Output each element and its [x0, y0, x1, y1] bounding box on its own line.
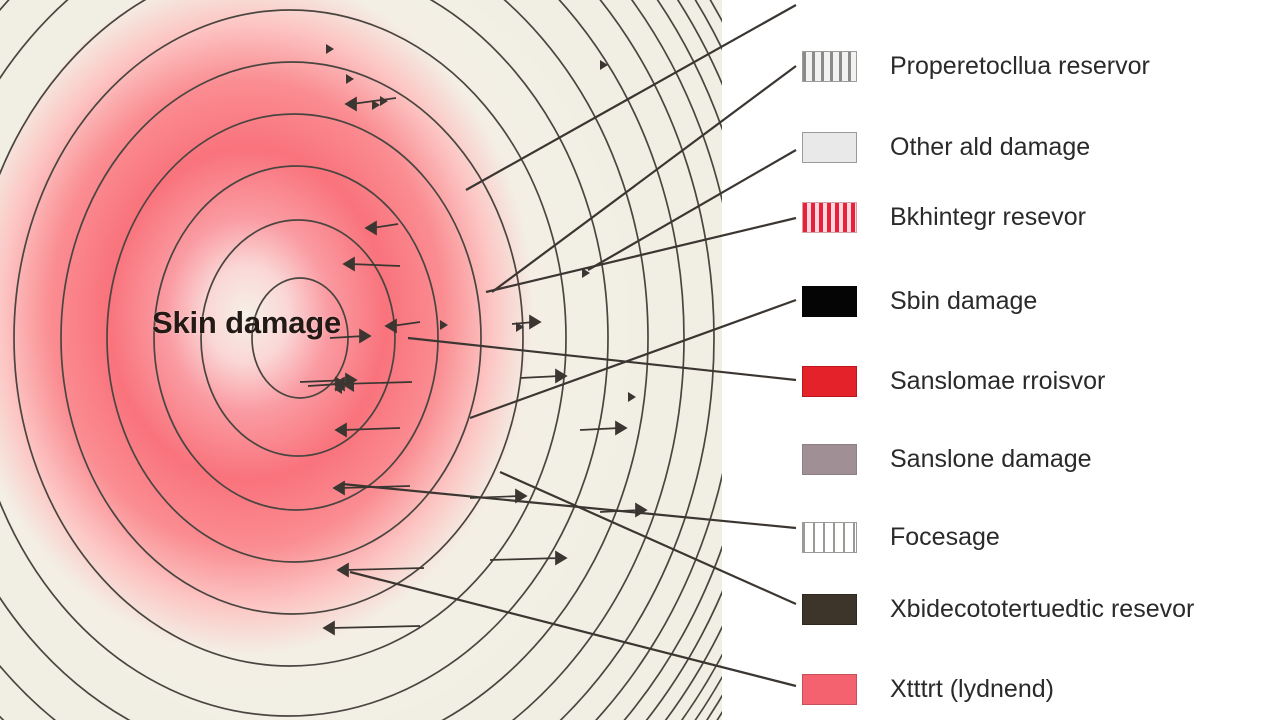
solid-dark-brown-swatch-icon [802, 594, 857, 625]
open-hatched-swatch-icon [802, 522, 857, 553]
legend-item-2[interactable]: Bkhintegr resevor [802, 198, 1086, 236]
legend-item-5[interactable]: Sanslone damage [802, 440, 1092, 478]
legend-item-6[interactable]: Focesage [802, 518, 1000, 556]
legend-item-8[interactable]: Xtttrt (lydnend) [802, 670, 1054, 708]
diagram-root: Skin damage Properetocllua reservor [0, 0, 1280, 720]
contour-field [0, 0, 730, 720]
legend-panel: Properetocllua reservor Other ald damage… [730, 0, 1280, 720]
legend-item-label: Sanslone damage [890, 445, 1092, 474]
legend-item-label: Properetocllua reservor [890, 52, 1150, 81]
legend-item-label: Focesage [890, 523, 1000, 552]
map-center-label: Skin damage [152, 305, 341, 341]
legend-item-label: Xtttrt (lydnend) [890, 675, 1054, 704]
legend-item-label: Sbin damage [890, 287, 1037, 316]
solid-mauve-swatch-icon [802, 444, 857, 475]
hatched-red-swatch-icon [802, 202, 857, 233]
solid-light-gray-swatch-icon [802, 132, 857, 163]
solid-pink-swatch-icon [802, 674, 857, 705]
legend-item-label: Bkhintegr resevor [890, 203, 1086, 232]
legend-item-label: Sanslomae rroisvor [890, 367, 1105, 396]
legend-item-3[interactable]: Sbin damage [802, 282, 1037, 320]
map-right-edge-mask [722, 0, 730, 720]
legend-items-list: Properetocllua reservor Other ald damage… [802, 0, 1280, 720]
legend-item-4[interactable]: Sanslomae rroisvor [802, 362, 1105, 400]
hatched-gray-swatch-icon [802, 51, 857, 82]
legend-item-7[interactable]: Xbidecototertuedtic resevor [802, 590, 1194, 628]
legend-item-1[interactable]: Other ald damage [802, 128, 1090, 166]
legend-item-0[interactable]: Properetocllua reservor [802, 47, 1150, 85]
contour-map-svg [0, 0, 730, 720]
solid-red-swatch-icon [802, 366, 857, 397]
contour-map-panel: Skin damage [0, 0, 730, 720]
legend-item-label: Xbidecototertuedtic resevor [890, 595, 1194, 624]
solid-black-swatch-icon [802, 286, 857, 317]
legend-item-label: Other ald damage [890, 133, 1090, 162]
